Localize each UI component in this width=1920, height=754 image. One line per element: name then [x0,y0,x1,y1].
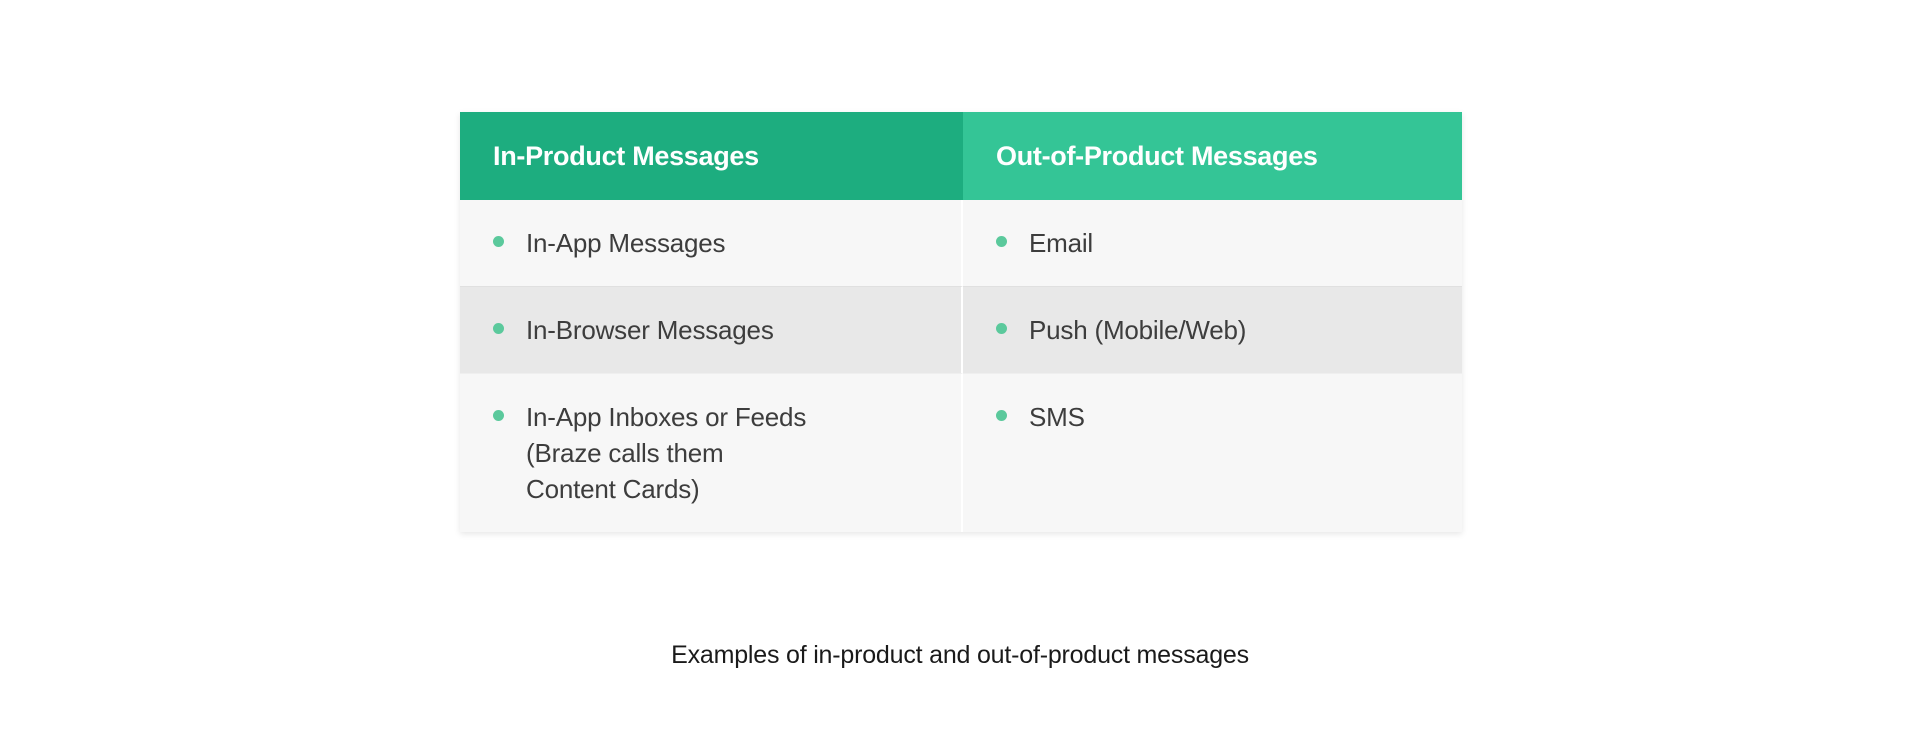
table-row: In-App Inboxes or Feeds (Braze calls the… [460,373,1462,532]
text-line: (Braze calls them [526,435,806,471]
text-line: In-App Messages [526,225,725,261]
bullet-icon [493,323,504,334]
table-cell-out-of-product: Push (Mobile/Web) [963,286,1462,373]
table-cell-text: In-Browser Messages [526,312,774,348]
table-header-label-out-of-product: Out-of-Product Messages [996,143,1318,170]
figure-container: In-Product Messages Out-of-Product Messa… [0,0,1920,754]
figure-caption: Examples of in-product and out-of-produc… [0,638,1920,672]
table-cell-in-product: In-App Messages [460,200,963,286]
table-row: In-Browser Messages Push (Mobile/Web) [460,286,1462,373]
table-cell-in-product: In-Browser Messages [460,286,963,373]
bullet-icon [996,236,1007,247]
table-cell-text: Push (Mobile/Web) [1029,312,1246,348]
bullet-icon [493,236,504,247]
text-line: Content Cards) [526,471,806,507]
comparison-table: In-Product Messages Out-of-Product Messa… [460,112,1462,532]
text-line: In-Browser Messages [526,312,774,348]
table-header-row: In-Product Messages Out-of-Product Messa… [460,112,1462,200]
table-cell-out-of-product: SMS [963,373,1462,532]
table-cell-text: In-App Messages [526,225,725,261]
table-header-label-in-product: In-Product Messages [493,143,759,170]
table-header-cell-in-product: In-Product Messages [460,112,963,200]
bullet-icon [996,410,1007,421]
table-header-cell-out-of-product: Out-of-Product Messages [963,112,1462,200]
text-line: Push (Mobile/Web) [1029,312,1246,348]
table-cell-text: SMS [1029,399,1085,435]
bullet-icon [996,323,1007,334]
table-cell-out-of-product: Email [963,200,1462,286]
table-cell-text: Email [1029,225,1093,261]
text-line: In-App Inboxes or Feeds [526,399,806,435]
table-cell-in-product: In-App Inboxes or Feeds (Braze calls the… [460,373,963,532]
table-row: In-App Messages Email [460,200,1462,286]
text-line: SMS [1029,399,1085,435]
text-line: Email [1029,225,1093,261]
table-cell-text: In-App Inboxes or Feeds (Braze calls the… [526,399,806,507]
bullet-icon [493,410,504,421]
